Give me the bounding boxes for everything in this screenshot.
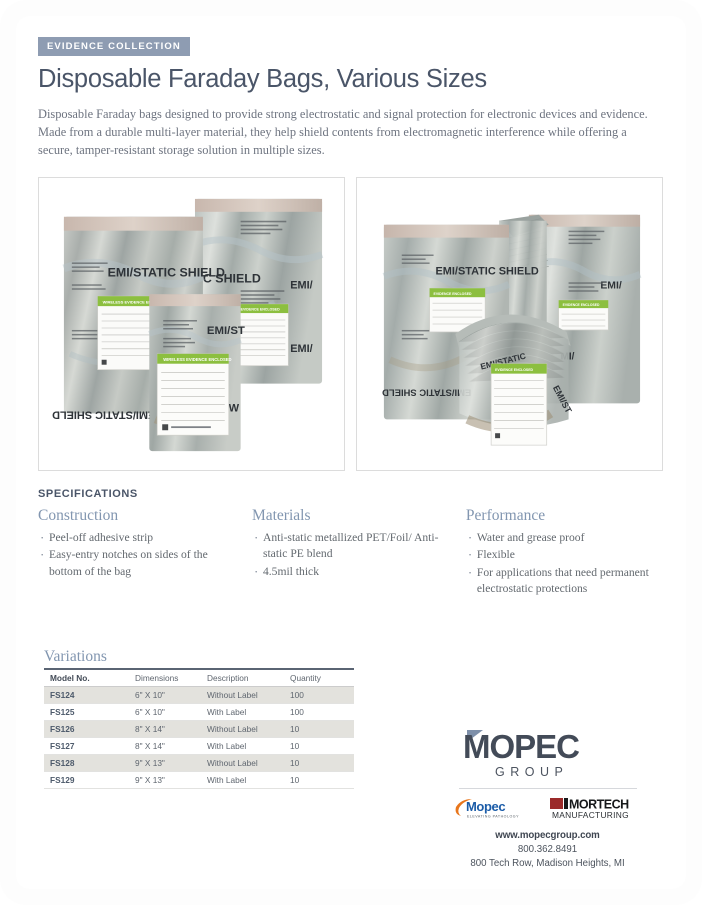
faraday-bags-stacks-illustration: EMI/ MI/ EVIDENCE ENCLOSED [364,185,655,463]
cell-dimensions: 9" X 13" [129,772,201,789]
cell-quantity: 10 [284,738,354,755]
svg-text:EMI/STATIC SHIELD: EMI/STATIC SHIELD [52,408,155,420]
spec-item: Flexible [466,547,650,563]
spec-heading-construction: Construction [38,507,238,525]
cell-model: FS129 [44,772,129,789]
cell-dimensions: 6" X 10" [129,704,201,721]
svg-text:EVIDENCE ENCLOSED: EVIDENCE ENCLOSED [563,303,600,307]
svg-text:EMI/: EMI/ [290,343,312,355]
sub-logos: Mopec ELEVATING PATHOLOGY MORTECH MANUFA… [440,796,655,820]
variations-table: Model No. Dimensions Description Quantit… [44,668,354,789]
spec-list-performance: Water and grease proof Flexible For appl… [466,530,650,598]
spec-column-materials: Materials Anti-static metallized PET/Foi… [252,507,466,599]
svg-text:EMI/STATIC SHIELD: EMI/STATIC SHIELD [382,387,471,398]
cell-dimensions: 9" X 13" [129,755,201,772]
spec-item: Peel-off adhesive strip [38,530,238,546]
table-row: FS125 6" X 10" With Label 100 [44,704,354,721]
website-link[interactable]: www.mopecgroup.com [440,829,655,843]
svg-text:EVIDENCE ENCLOSED: EVIDENCE ENCLOSED [241,307,280,311]
table-row: FS124 6" X 10" Without Label 100 [44,687,354,704]
svg-text:WIRELESS EVIDENCE ENCLOSED: WIRELESS EVIDENCE ENCLOSED [163,357,231,362]
mopec-group-logo: MOPEC GROUP [453,726,643,782]
svg-text:EMI/STATIC SHIELD: EMI/STATIC SHIELD [108,265,225,279]
cell-quantity: 100 [284,687,354,704]
column-header-model: Model No. [44,669,129,687]
intro-paragraph: Disposable Faraday bags designed to prov… [38,106,654,160]
cell-quantity: 10 [284,721,354,738]
cell-quantity: 100 [284,704,354,721]
cell-quantity: 10 [284,755,354,772]
mortech-manufacturing-logo: MORTECH MANUFACTURING [550,796,642,820]
product-image-1[interactable]: C SHIELD EMI/ EMI/ E [38,177,345,471]
mopec-logo: Mopec ELEVATING PATHOLOGY [454,796,532,820]
spec-item: Easy-entry notches on sides of the botto… [38,547,238,580]
table-header-row: Model No. Dimensions Description Quantit… [44,669,354,687]
specifications-columns: Construction Peel-off adhesive strip Eas… [38,507,664,599]
spec-column-performance: Performance Water and grease proof Flexi… [466,507,664,599]
cell-model: FS127 [44,738,129,755]
cell-description: Without Label [201,721,284,738]
svg-text:Mopec: Mopec [466,799,505,814]
svg-text:EMI/: EMI/ [290,279,312,291]
cell-model: FS125 [44,704,129,721]
table-row: FS128 9" X 13" Without Label 10 [44,755,354,772]
spec-item: Water and grease proof [466,530,650,546]
product-sheet-page: EVIDENCE COLLECTION Disposable Faraday B… [0,0,702,905]
svg-text:MOPEC: MOPEC [463,728,579,765]
address: 800 Tech Row, Madison Heights, MI [440,857,655,871]
svg-text:EMI/STATIC SHIELD: EMI/STATIC SHIELD [436,265,539,277]
cell-description: With Label [201,704,284,721]
cell-model: FS124 [44,687,129,704]
product-image-gallery: C SHIELD EMI/ EMI/ E [38,177,664,471]
cell-dimensions: 6" X 10" [129,687,201,704]
spec-heading-performance: Performance [466,507,650,525]
column-header-quantity: Quantity [284,669,354,687]
svg-text:GROUP: GROUP [495,765,568,779]
spec-heading-materials: Materials [252,507,452,525]
cell-description: With Label [201,738,284,755]
contact-block: www.mopecgroup.com 800.362.8491 800 Tech… [440,829,655,870]
spec-list-materials: Anti-static metallized PET/Foil/ Anti-st… [252,530,452,580]
column-header-dimensions: Dimensions [129,669,201,687]
column-header-description: Description [201,669,284,687]
cell-model: FS128 [44,755,129,772]
table-row: FS127 8" X 14" With Label 10 [44,738,354,755]
header-section: EVIDENCE COLLECTION Disposable Faraday B… [38,36,664,160]
page-title: Disposable Faraday Bags, Various Sizes [38,65,664,94]
footer-divider [459,788,637,789]
svg-text:W: W [229,402,240,414]
spec-column-construction: Construction Peel-off adhesive strip Eas… [38,507,252,599]
cell-description: With Label [201,772,284,789]
table-row: FS129 9" X 13" With Label 10 [44,772,354,789]
svg-text:EVIDENCE ENCLOSED: EVIDENCE ENCLOSED [495,368,533,372]
svg-text:ELEVATING PATHOLOGY: ELEVATING PATHOLOGY [467,815,519,819]
svg-text:EMI/: EMI/ [600,280,622,291]
cell-dimensions: 8" X 14" [129,738,201,755]
cell-description: Without Label [201,755,284,772]
footer-section: MOPEC GROUP Mopec ELEVATING PATHOLOGY MO… [440,726,655,870]
spec-item: For applications that need permanent ele… [466,565,650,598]
cell-description: Without Label [201,687,284,704]
spec-item: Anti-static metallized PET/Foil/ Anti-st… [252,530,452,563]
spec-item: 4.5mil thick [252,564,452,580]
svg-text:EVIDENCE ENCLOSED: EVIDENCE ENCLOSED [434,292,472,296]
cell-dimensions: 8" X 14" [129,721,201,738]
svg-text:EMI/ST: EMI/ST [207,325,245,337]
faraday-bags-trio-illustration: C SHIELD EMI/ EMI/ E [46,185,337,463]
product-image-2[interactable]: EMI/ MI/ EVIDENCE ENCLOSED [356,177,663,471]
cell-quantity: 10 [284,772,354,789]
category-badge: EVIDENCE COLLECTION [38,37,190,56]
specifications-label: SPECIFICATIONS [38,488,664,500]
svg-text:MANUFACTURING: MANUFACTURING [552,810,629,820]
spec-list-construction: Peel-off adhesive strip Easy-entry notch… [38,530,238,580]
variations-heading: Variations [44,648,107,666]
phone-number[interactable]: 800.362.8491 [440,843,655,857]
cell-model: FS126 [44,721,129,738]
table-row: FS126 8" X 14" Without Label 10 [44,721,354,738]
